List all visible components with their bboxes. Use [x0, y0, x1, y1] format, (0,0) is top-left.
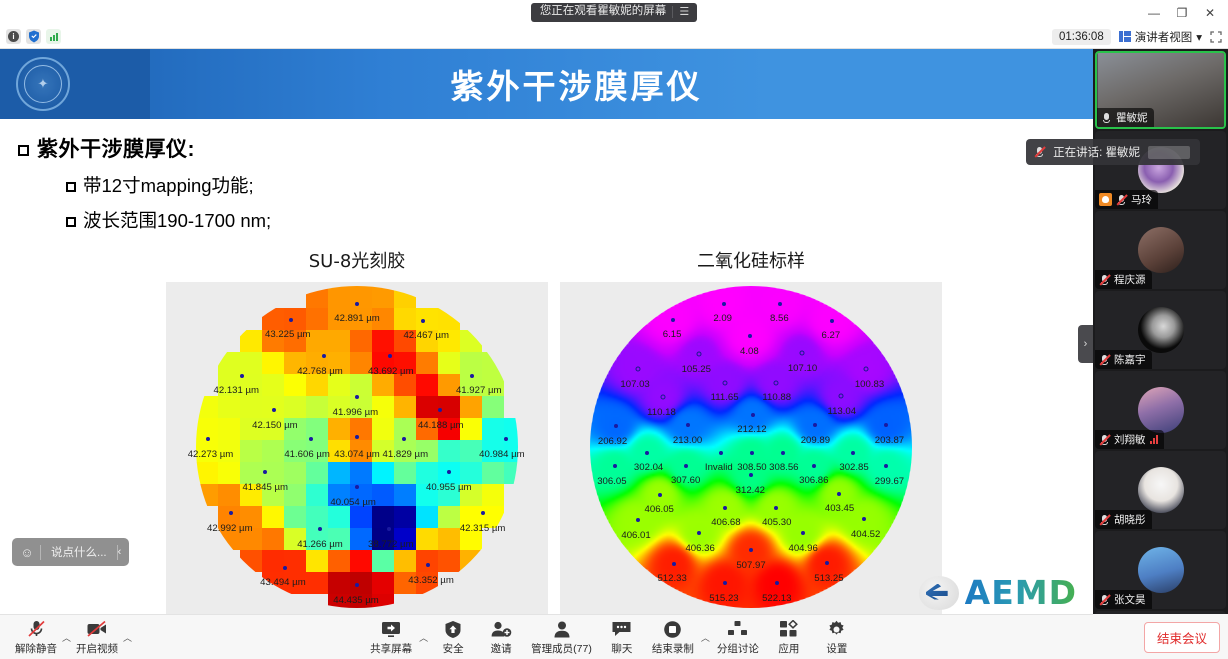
data-point-label: 41.996 µm: [333, 407, 379, 418]
topbar-right-controls: 01:36:08 演讲者视图 ▾: [1052, 29, 1222, 45]
slide-bullet-level2-b: 波长范围190-1700 nm;: [66, 207, 1093, 233]
participant-name: 程庆源: [1114, 272, 1146, 287]
mic-icon: [1101, 112, 1112, 124]
info-icon[interactable]: i: [6, 29, 21, 44]
data-point-label: 40.955 µm: [426, 482, 472, 493]
data-point: [635, 367, 640, 372]
data-point-label: 513.25: [814, 573, 843, 584]
avatar: [1138, 467, 1184, 513]
data-point: [309, 437, 313, 441]
toolbar-left-group: 解除静音 ︿ 开启视频 ︿: [0, 617, 132, 657]
banner-divider: [672, 6, 673, 18]
stop-recording-button[interactable]: 结束录制: [647, 617, 699, 657]
data-point-label: 43.352 µm: [408, 575, 454, 586]
data-point: [862, 517, 866, 521]
data-point: [686, 423, 690, 427]
wafer-maps-row: SU-8光刻胶 42.891 µm43.225 µm42.467 µm42.76…: [18, 247, 1093, 614]
slide-body: 紫外干涉膜厚仪: 带12寸mapping功能; 波长范围190-1700 nm;…: [0, 119, 1093, 614]
data-point-label: 43.074 µm: [334, 449, 380, 460]
data-point-label: 40.984 µm: [479, 449, 525, 460]
gear-icon: [827, 619, 846, 639]
share-screen-button[interactable]: 共享屏幕: [365, 617, 417, 657]
data-point-label: 100.83: [855, 379, 884, 390]
data-point: [671, 318, 675, 322]
data-point-label: 40.054 µm: [330, 497, 376, 508]
data-point: [387, 527, 391, 531]
data-point: [837, 492, 841, 496]
host-badge-icon: [1099, 193, 1112, 206]
chat-expand-icon[interactable]: ‹: [118, 546, 128, 558]
data-point: [504, 437, 508, 441]
participant-namebar: 程庆源: [1095, 270, 1152, 289]
apps-button[interactable]: 应用: [766, 617, 812, 657]
data-point: [748, 334, 752, 338]
shield-icon[interactable]: [26, 29, 41, 44]
data-point: [481, 511, 485, 515]
wafer-map-sio2-title: 二氧化硅标样: [560, 247, 942, 273]
signal-strength-icon: [1150, 435, 1158, 444]
data-point-label: 41.606 µm: [284, 449, 330, 460]
invite-user-icon: [490, 619, 512, 639]
participant-namebar: 刘翔敏: [1095, 430, 1164, 449]
data-point-label: 406.05: [645, 504, 674, 515]
data-point: [749, 473, 753, 477]
emoji-icon[interactable]: ☺: [14, 545, 40, 560]
data-point: [864, 367, 869, 372]
data-point-label: 111.65: [711, 392, 739, 403]
data-point: [697, 531, 701, 535]
data-point-label: 302.85: [839, 462, 868, 473]
data-point: [723, 380, 728, 385]
data-point: [884, 464, 888, 468]
participant-tile[interactable]: 胡晓彤: [1095, 451, 1226, 529]
wafer-map-su8-title: SU-8光刻胶: [166, 247, 548, 273]
data-point-label: 42.768 µm: [297, 366, 343, 377]
data-point-label: 308.50: [737, 462, 766, 473]
data-point: [723, 506, 727, 510]
data-point-label: 507.97: [736, 560, 765, 571]
slide-bullet-level2-b-text: 波长范围190-1700 nm;: [83, 207, 271, 233]
invite-button[interactable]: 邀请: [478, 617, 524, 657]
avatar: [1138, 227, 1184, 273]
data-point: [696, 352, 701, 357]
data-point: [658, 493, 662, 497]
security-button[interactable]: 安全: [430, 617, 476, 657]
unmute-button[interactable]: 解除静音: [10, 617, 62, 657]
chat-input-placeholder[interactable]: 说点什么...: [41, 544, 117, 560]
data-point-label: 403.45: [825, 503, 854, 514]
data-point: [749, 548, 753, 552]
data-point: [884, 423, 888, 427]
breakout-rooms-icon: [727, 619, 748, 639]
list-menu-icon[interactable]: ☰: [679, 7, 688, 18]
participant-tile[interactable]: 程庆源: [1095, 211, 1226, 289]
participant-namebar: 马玲: [1095, 190, 1158, 209]
data-point-label: 206.92: [598, 436, 627, 447]
participant-name: 马玲: [1131, 192, 1152, 207]
participant-name: 胡晓彤: [1114, 512, 1146, 527]
participant-tile[interactable]: 张文昊: [1095, 531, 1226, 609]
university-seal-logo: ✦: [16, 57, 70, 111]
data-point-label: 405.30: [762, 517, 791, 528]
participant-name: 刘翔敏: [1114, 432, 1146, 447]
data-point: [830, 319, 834, 323]
data-point: [355, 485, 359, 489]
data-point-label: 110.18: [647, 407, 676, 418]
data-point-label: 44.435 µm: [333, 595, 379, 606]
network-signal-icon[interactable]: [46, 29, 61, 44]
data-point-label: 41.927 µm: [456, 385, 502, 396]
speaking-toast-blur: [1148, 146, 1190, 159]
mic-muted-icon: [1099, 434, 1110, 446]
bullet-square-icon: [66, 182, 76, 192]
mic-muted-icon: [1034, 146, 1045, 158]
data-point-label: 203.87: [875, 435, 904, 446]
data-point: [661, 395, 666, 400]
data-point: [774, 506, 778, 510]
data-point-label: 43.692 µm: [368, 366, 414, 377]
start-video-button[interactable]: 开启视频: [71, 617, 123, 657]
speaking-toast-text: 正在讲话: 瞿敏妮: [1053, 144, 1140, 160]
data-point-label: 2.09: [713, 313, 732, 324]
data-point-label: 306.05: [597, 476, 626, 487]
participant-namebar: 胡晓彤: [1095, 510, 1152, 529]
security-shield-icon: [444, 619, 462, 639]
video-options-caret[interactable]: ︿: [123, 631, 132, 657]
data-point: [289, 318, 293, 322]
bullet-square-icon: [66, 217, 76, 227]
data-point-label: 299.67: [875, 476, 904, 487]
settings-label: 设置: [826, 641, 847, 656]
data-point: [645, 451, 649, 455]
chat-label: 聊天: [611, 641, 632, 656]
participant-namebar: 陈嘉宇: [1095, 350, 1152, 369]
data-point-label: 41.845 µm: [242, 482, 288, 493]
slide-bullet-level1-text: 紫外干涉膜厚仪:: [37, 133, 195, 163]
data-point: [355, 302, 359, 306]
wafer-map-su8: SU-8光刻胶 42.891 µm43.225 µm42.467 µm42.76…: [166, 247, 548, 614]
maximize-icon[interactable]: ❐: [1168, 1, 1196, 25]
data-point-label: 306.86: [799, 475, 828, 486]
data-point: [839, 394, 844, 399]
speaking-toast: 正在讲话: 瞿敏妮: [1026, 139, 1200, 165]
stop-recording-icon: [663, 619, 682, 639]
data-point: [750, 451, 754, 455]
data-point: [774, 380, 779, 385]
data-point: [636, 518, 640, 522]
window-titlebar: 您正在观看瞿敏妮的屏幕 ☰ — ❐ ✕: [0, 0, 1228, 25]
unmute-label: 解除静音: [15, 641, 57, 656]
mic-muted-icon: [1116, 194, 1127, 206]
data-point-label: 406.68: [711, 517, 740, 528]
data-point-label: 42.315 µm: [460, 523, 506, 534]
share-screen-label: 共享屏幕: [370, 641, 412, 656]
data-point-label: 43.225 µm: [265, 329, 311, 340]
topbar-status-icons: i: [6, 29, 61, 44]
data-point-label: 105.25: [682, 364, 711, 375]
end-meeting-button[interactable]: 结束会议: [1144, 622, 1220, 653]
data-point: [240, 374, 244, 378]
video-muted-icon: [86, 619, 108, 639]
data-point-label: 42.467 µm: [403, 330, 449, 341]
data-point: [722, 302, 726, 306]
manage-participants-button[interactable]: 管理成员(77): [526, 617, 597, 657]
data-point-label: 42.131 µm: [213, 385, 259, 396]
data-point-label: 6.15: [663, 329, 682, 340]
data-point-label: 38.772 µm: [368, 539, 414, 550]
chat-input[interactable]: ☺ 说点什么... ‹: [12, 538, 129, 566]
chat-button[interactable]: 聊天: [599, 617, 645, 657]
data-point: [813, 423, 817, 427]
zoom-meeting-window: 您正在观看瞿敏妮的屏幕 ☰ — ❐ ✕ i 01:36:08: [0, 0, 1228, 659]
data-point: [613, 464, 617, 468]
data-point-label: 42.891 µm: [334, 313, 380, 324]
participant-tile[interactable]: 瞿敏妮: [1095, 51, 1226, 129]
page-title: 紫外干涉膜厚仪: [451, 60, 703, 108]
data-point-label: 312.42: [736, 485, 765, 496]
invite-label: 邀请: [491, 641, 512, 656]
data-point-label: 42.992 µm: [207, 523, 253, 534]
data-point-label: 43.494 µm: [260, 577, 306, 588]
data-point: [672, 562, 676, 566]
slide-bullet-level1: 紫外干涉膜厚仪:: [18, 133, 1093, 163]
security-label: 安全: [443, 641, 464, 656]
data-point-label: 107.10: [788, 363, 817, 374]
data-point: [263, 470, 267, 474]
chevron-down-icon[interactable]: ▾: [1196, 30, 1202, 44]
minimize-icon[interactable]: —: [1140, 1, 1168, 25]
meeting-toolbar: 解除静音 ︿ 开启视频 ︿: [0, 614, 1093, 659]
settings-button[interactable]: 设置: [814, 617, 860, 657]
share-options-caret[interactable]: ︿: [419, 631, 428, 657]
slide-header: ✦ 紫外干涉膜厚仪: [0, 49, 1093, 119]
breakout-rooms-label: 分组讨论: [717, 641, 759, 656]
data-point-label: 113.04: [827, 406, 856, 417]
data-point: [355, 395, 359, 399]
data-point: [812, 464, 816, 468]
data-point: [801, 531, 805, 535]
mic-muted-icon: [1099, 514, 1110, 526]
shared-screen-area: ✦ 紫外干涉膜厚仪 紫外干涉膜厚仪: 带12寸mapping功能; 波长范围19…: [0, 49, 1093, 614]
data-point: [799, 350, 804, 355]
stop-recording-label: 结束录制: [652, 641, 694, 656]
data-point: [781, 451, 785, 455]
view-mode-selector[interactable]: 演讲者视图 ▾: [1119, 29, 1202, 45]
share-screen-icon: [380, 619, 402, 639]
mic-muted-icon: [1099, 274, 1110, 286]
data-point-label: 4.08: [740, 346, 759, 357]
data-point-label: Invalid: [705, 462, 733, 473]
screen-share-banner-text: 您正在观看瞿敏妮的屏幕: [540, 6, 667, 18]
data-point-label: 44.188 µm: [418, 420, 464, 431]
window-controls: — ❐ ✕: [1140, 0, 1224, 25]
data-point-label: 406.01: [621, 530, 650, 541]
data-point: [283, 566, 287, 570]
participant-name: 陈嘉宇: [1114, 352, 1146, 367]
data-point: [614, 424, 618, 428]
wafer-map-sio2-panel: 2.098.566.156.274.08105.25107.10107.0310…: [560, 282, 942, 614]
data-point-label: 42.150 µm: [252, 420, 298, 431]
participant-namebar: 张文昊: [1095, 590, 1152, 609]
data-point-label: 41.829 µm: [383, 449, 429, 460]
data-point: [388, 354, 392, 358]
data-point: [719, 451, 723, 455]
wafer-map-su8-panel: 42.891 µm43.225 µm42.467 µm42.768 µm43.6…: [166, 282, 548, 614]
data-point: [723, 581, 727, 585]
mic-muted-icon: [1099, 354, 1110, 366]
data-point-label: 110.88: [762, 392, 791, 403]
data-point: [322, 354, 326, 358]
data-point-label: 6.27: [822, 330, 841, 341]
data-point-label: 308.56: [769, 462, 798, 473]
data-point-label: 41.266 µm: [297, 539, 343, 550]
participant-namebar: 瞿敏妮: [1097, 108, 1154, 127]
slide-bullet-level2-a-text: 带12寸mapping功能;: [83, 172, 254, 198]
aemd-mark-icon: [919, 576, 959, 610]
slide-bullet-level2-a: 带12寸mapping功能;: [66, 172, 1093, 198]
data-point-label: 522.13: [762, 593, 791, 604]
meeting-topbar: i 01:36:08 演讲者视图 ▾: [0, 25, 1228, 49]
fullscreen-icon[interactable]: [1210, 31, 1222, 43]
apps-label: 应用: [778, 641, 799, 656]
data-point-label: 107.03: [620, 379, 649, 390]
toolbar-center-group: 共享屏幕 ︿ 安全: [365, 617, 860, 657]
start-video-label: 开启视频: [76, 641, 118, 656]
participant-tile[interactable]: 陈嘉宇: [1095, 291, 1226, 369]
bullet-square-icon: [18, 145, 29, 156]
avatar: [1138, 387, 1184, 433]
data-point: [778, 302, 782, 306]
mic-muted-icon: [27, 619, 46, 639]
participant-name: 张文昊: [1114, 592, 1146, 607]
breakout-rooms-button[interactable]: 分组讨论: [712, 617, 764, 657]
data-point-label: 42.273 µm: [188, 449, 234, 460]
data-point-label: 404.52: [851, 529, 880, 540]
data-point: [272, 408, 276, 412]
data-point: [421, 319, 425, 323]
data-point: [438, 408, 442, 412]
sidebar-collapse-handle[interactable]: ›: [1078, 325, 1093, 363]
wafer-disc-su8: [196, 286, 518, 608]
record-options-caret[interactable]: ︿: [701, 631, 710, 657]
apps-grid-icon: [779, 619, 798, 639]
data-point-label: 404.96: [788, 543, 817, 554]
data-point: [229, 511, 233, 515]
data-point-label: 213.00: [673, 435, 702, 446]
data-point-label: 302.04: [634, 462, 663, 473]
screen-share-banner[interactable]: 您正在观看瞿敏妮的屏幕 ☰: [531, 3, 697, 22]
speaker-view-icon: [1119, 31, 1131, 42]
data-point: [206, 437, 210, 441]
data-point: [851, 451, 855, 455]
avatar: [1138, 307, 1184, 353]
aemd-logo-text: AEMD: [965, 573, 1077, 612]
manage-participants-label: 管理成员(77): [531, 641, 592, 656]
data-point: [355, 583, 359, 587]
data-point-label: 515.23: [709, 593, 738, 604]
avatar: [1138, 547, 1184, 593]
participant-name: 瞿敏妮: [1116, 110, 1148, 125]
data-point-label: 406.36: [685, 543, 714, 554]
chat-bubble-icon: [611, 619, 632, 639]
data-point: [470, 374, 474, 378]
data-point-label: 8.56: [770, 313, 789, 324]
data-point: [402, 437, 406, 441]
audio-options-caret[interactable]: ︿: [62, 631, 71, 657]
mic-muted-icon: [1099, 594, 1110, 606]
data-point-label: 212.12: [737, 424, 766, 435]
meeting-timer: 01:36:08: [1052, 29, 1111, 45]
data-point: [318, 527, 322, 531]
data-point: [447, 470, 451, 474]
data-point-label: 307.60: [671, 475, 700, 486]
wafer-map-sio2: 二氧化硅标样 2.098.566.156.274.08105.25107.101…: [560, 247, 942, 614]
participants-icon: [552, 619, 572, 639]
view-mode-label: 演讲者视图: [1135, 29, 1193, 45]
data-point: [355, 435, 359, 439]
data-point-label: 512.33: [657, 573, 686, 584]
data-point: [825, 561, 829, 565]
data-point-label: 209.89: [801, 435, 830, 446]
data-point: [751, 413, 755, 417]
close-icon[interactable]: ✕: [1196, 1, 1224, 25]
data-point: [775, 581, 779, 585]
aemd-logo: AEMD: [919, 573, 1077, 612]
data-point: [426, 563, 430, 567]
participant-tile[interactable]: 刘翔敏: [1095, 371, 1226, 449]
data-point: [684, 464, 688, 468]
